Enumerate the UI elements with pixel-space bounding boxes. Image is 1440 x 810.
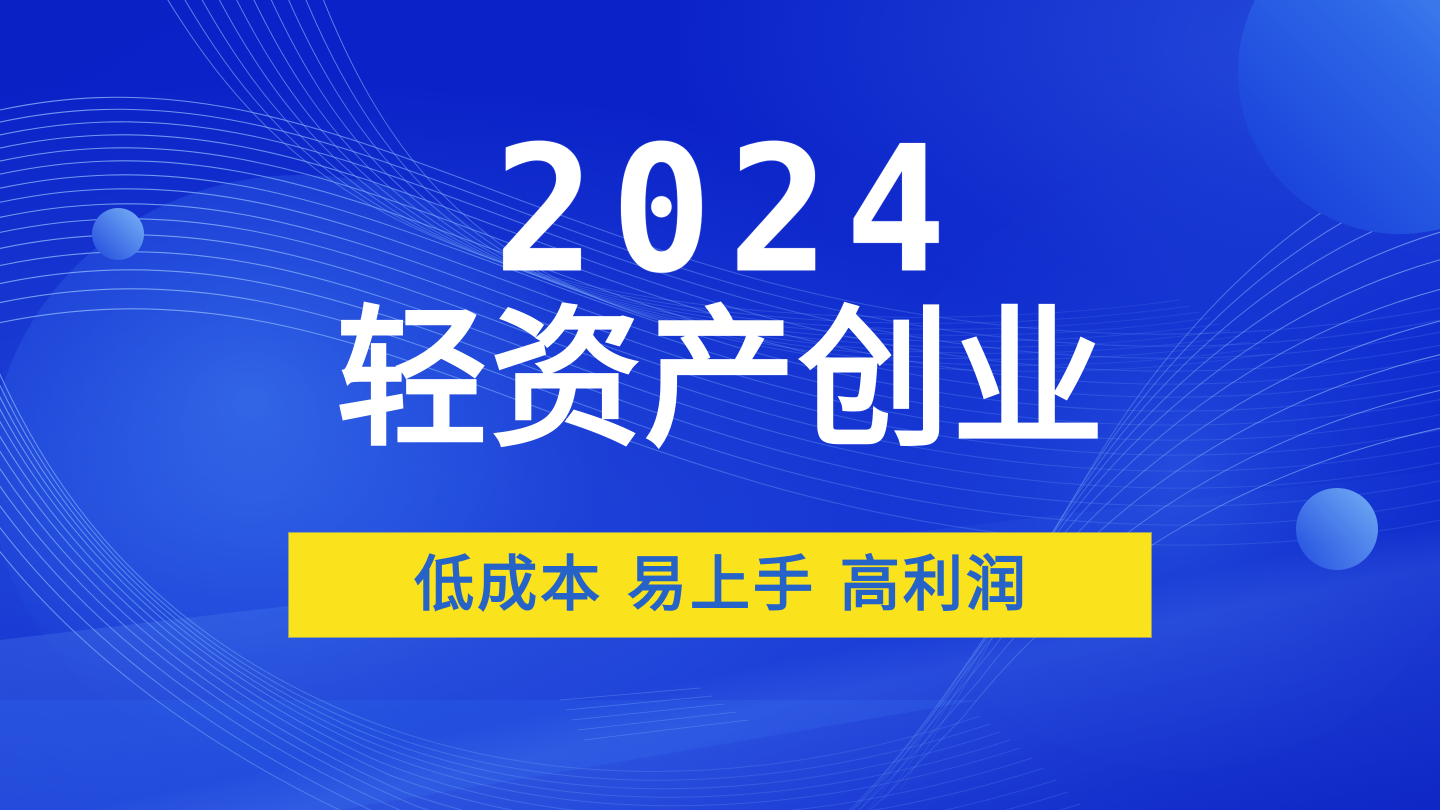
bottom-light-band: [0, 470, 1440, 810]
title-block: 2024 轻资产创业: [0, 126, 1440, 457]
year-title: 2024: [0, 123, 1440, 298]
orb-right-medium: [1296, 488, 1378, 570]
hatch-accent: [560, 688, 748, 740]
strapline-banner: 低成本 易上手 高利润: [289, 533, 1151, 637]
headline-title: 轻资产创业: [0, 302, 1440, 457]
bottom-wedge: [0, 700, 980, 810]
poster-canvas: 2024 轻资产创业 低成本 易上手 高利润: [0, 0, 1440, 810]
strapline-text: 低成本 易上手 高利润: [411, 555, 1029, 615]
